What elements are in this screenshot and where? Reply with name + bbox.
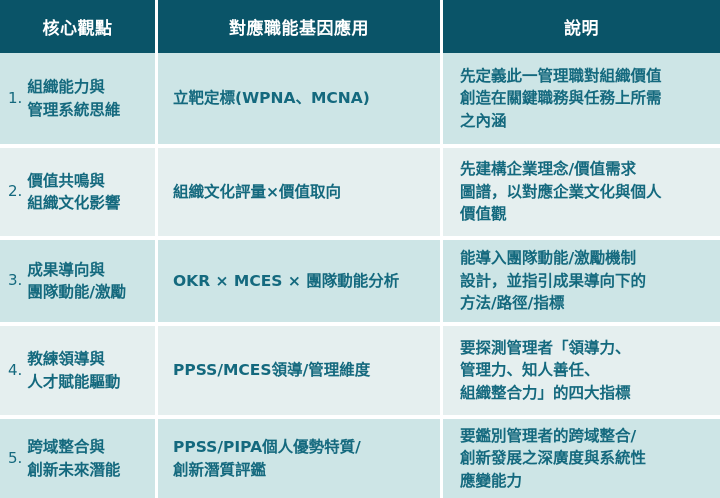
cell-description: 先建構企業理念/價值需求 圖譜，以對應企業文化與個人 價值觀 — [443, 148, 720, 236]
table-row: 2. 價值共鳴與 組織文化影響 組織文化評量×價值取向 先建構企業理念/價值需求… — [0, 148, 720, 236]
cell-description: 能導入團隊動能/激勵機制 設計，並指引成果導向下的 方法/路徑/指標 — [443, 240, 720, 322]
table-row: 4. 教練領導與 人才賦能驅動 PPSS/MCES領導/管理維度 要探測管理者「… — [0, 326, 720, 415]
cell-competency-application: OKR × MCES × 團隊動能分析 — [158, 240, 440, 322]
competency-mapping-table: 核心觀點 對應職能基因應用 說明 1. 組織能力與 管理系統思維 立靶定標(WP… — [0, 0, 720, 498]
cell-description: 先定義此一管理職對組織價值 創造在關鍵職務與任務上所需 之內涵 — [443, 53, 720, 144]
core-viewpoint-text: 教練領導與 人才賦能驅動 — [27, 348, 149, 393]
core-viewpoint-text: 價值共鳴與 組織文化影響 — [27, 170, 149, 215]
table-row: 5. 跨域整合與 創新未來潛能 PPSS/PIPA個人優勢特質/ 創新潛質評鑑 … — [0, 419, 720, 498]
cell-description: 要鑑別管理者的跨域整合/ 創新發展之深廣度與系統性 應變能力 — [443, 419, 720, 498]
column-header-core-viewpoint: 核心觀點 — [0, 0, 155, 53]
table-header-row: 核心觀點 對應職能基因應用 說明 — [0, 0, 720, 53]
table-row: 3. 成果導向與 團隊動能/激勵 OKR × MCES × 團隊動能分析 能導入… — [0, 240, 720, 322]
cell-core-viewpoint: 3. 成果導向與 團隊動能/激勵 — [0, 240, 155, 322]
cell-competency-application: PPSS/PIPA個人優勢特質/ 創新潛質評鑑 — [158, 419, 440, 498]
cell-core-viewpoint: 4. 教練領導與 人才賦能驅動 — [0, 326, 155, 415]
table-row: 1. 組織能力與 管理系統思維 立靶定標(WPNA、MCNA) 先定義此一管理職… — [0, 53, 720, 144]
cell-description: 要探測管理者「領導力、 管理力、知人善任、 組織整合力」的四大指標 — [443, 326, 720, 415]
cell-competency-application: 組織文化評量×價值取向 — [158, 148, 440, 236]
row-number: 5. — [8, 448, 22, 470]
row-number: 3. — [8, 270, 22, 292]
column-header-competency-application: 對應職能基因應用 — [158, 0, 440, 53]
column-header-description: 說明 — [443, 0, 720, 53]
cell-core-viewpoint: 1. 組織能力與 管理系統思維 — [0, 53, 155, 144]
core-viewpoint-text: 成果導向與 團隊動能/激勵 — [27, 259, 149, 304]
cell-competency-application: PPSS/MCES領導/管理維度 — [158, 326, 440, 415]
core-viewpoint-text: 跨域整合與 創新未來潛能 — [27, 436, 149, 481]
cell-core-viewpoint: 2. 價值共鳴與 組織文化影響 — [0, 148, 155, 236]
row-number: 4. — [8, 360, 22, 382]
row-number: 1. — [8, 88, 22, 110]
table-body: 1. 組織能力與 管理系統思維 立靶定標(WPNA、MCNA) 先定義此一管理職… — [0, 53, 720, 498]
cell-core-viewpoint: 5. 跨域整合與 創新未來潛能 — [0, 419, 155, 498]
core-viewpoint-text: 組織能力與 管理系統思維 — [27, 76, 149, 121]
cell-competency-application: 立靶定標(WPNA、MCNA) — [158, 53, 440, 144]
row-number: 2. — [8, 181, 22, 203]
